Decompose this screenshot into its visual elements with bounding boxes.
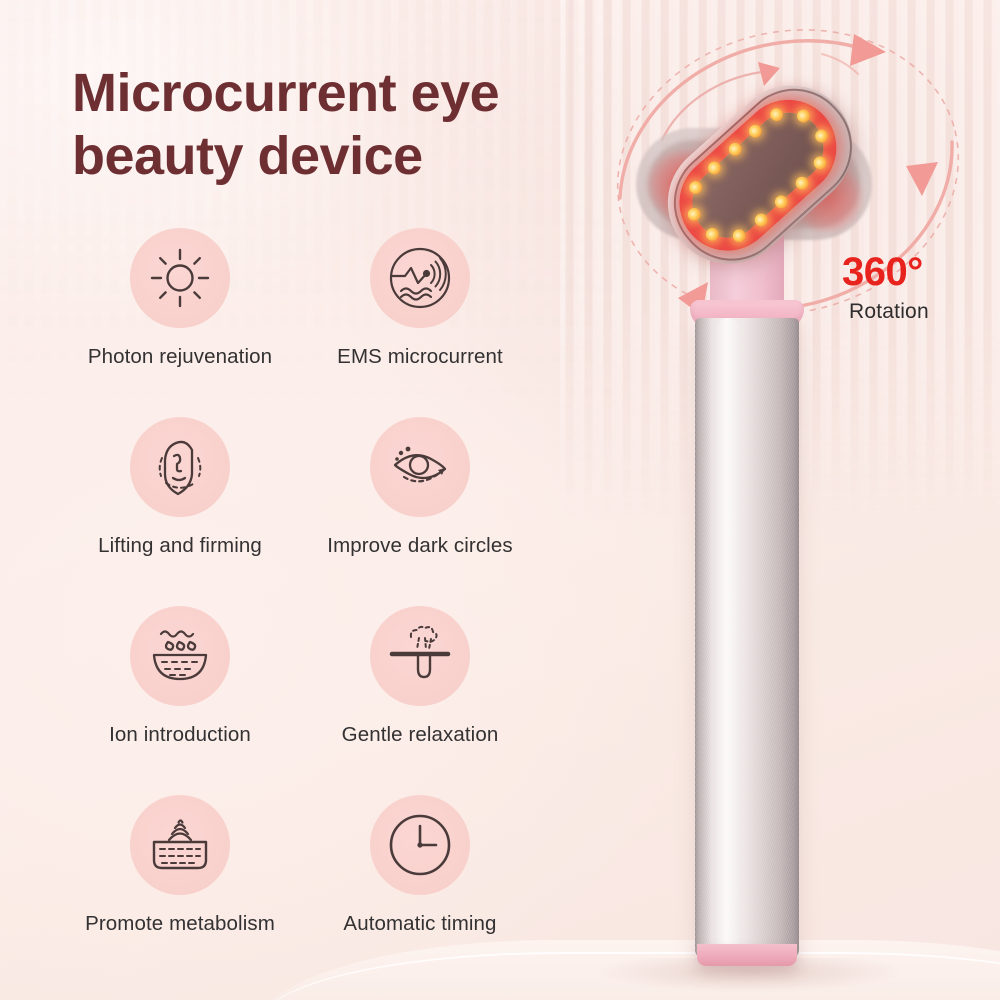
feature-icon-disc [130,228,230,328]
feature-icon-disc [130,417,230,517]
device-base-cap [697,944,797,966]
feature-label: Automatic timing [343,912,496,936]
feature-label: Lifting and firming [98,534,262,558]
feature-item-photon-rejuvenation[interactable]: Photon rejuvenation [60,228,300,369]
skin-waves-icon [149,816,211,874]
feature-item-promote-metabolism[interactable]: Promote metabolism [60,795,300,936]
feature-label: Gentle relaxation [342,723,499,747]
feature-icon-disc [370,795,470,895]
feature-icon-disc [370,417,470,517]
rotation-badge-value: 360° [842,252,923,292]
feature-row: Ion introduction Gentle relaxation [60,606,580,747]
feature-label: Photon rejuvenation [88,345,272,369]
feature-label: Promote metabolism [85,912,275,936]
page-title-line-2: beauty device [72,125,632,188]
sun-icon [150,248,210,308]
ems-wave-icon [389,247,451,309]
page-title: Microcurrent eye beauty device [72,62,632,187]
face-lift-icon [151,436,209,498]
feature-icon-disc [370,228,470,328]
feature-icon-disc [370,606,470,706]
feature-label: Ion introduction [109,723,251,747]
feature-item-lifting-and-firming[interactable]: Lifting and firming [60,417,300,558]
product-poster: Microcurrent eye beauty device [0,0,1000,1000]
feature-item-ion-introduction[interactable]: Ion introduction [60,606,300,747]
page-title-line-1: Microcurrent eye [72,62,632,125]
feature-row: Photon rejuvenation EMS microcurr [60,228,580,369]
feature-icon-disc [130,606,230,706]
feature-row: Promote metabolism Automatic timing [60,795,580,936]
feature-item-ems-microcurrent[interactable]: EMS microcurrent [300,228,540,369]
feature-icon-disc [130,795,230,895]
feature-list: Photon rejuvenation EMS microcurr [60,228,580,984]
device-handle [695,318,799,958]
feature-label: Improve dark circles [327,534,512,558]
handle-highlight [715,318,741,958]
rotation-badge-caption: Rotation [849,300,929,324]
eye-icon [388,439,452,495]
handle-texture [695,318,799,958]
clock-icon [389,814,451,876]
feature-label: EMS microcurrent [337,345,503,369]
feature-row: Lifting and firming Improve dark circles [60,417,580,558]
pore-steam-icon [389,625,451,687]
feature-item-improve-dark-circles[interactable]: Improve dark circles [300,417,540,558]
feature-item-automatic-timing[interactable]: Automatic timing [300,795,540,936]
ion-droplet-icon [149,627,211,685]
feature-item-gentle-relaxation[interactable]: Gentle relaxation [300,606,540,747]
